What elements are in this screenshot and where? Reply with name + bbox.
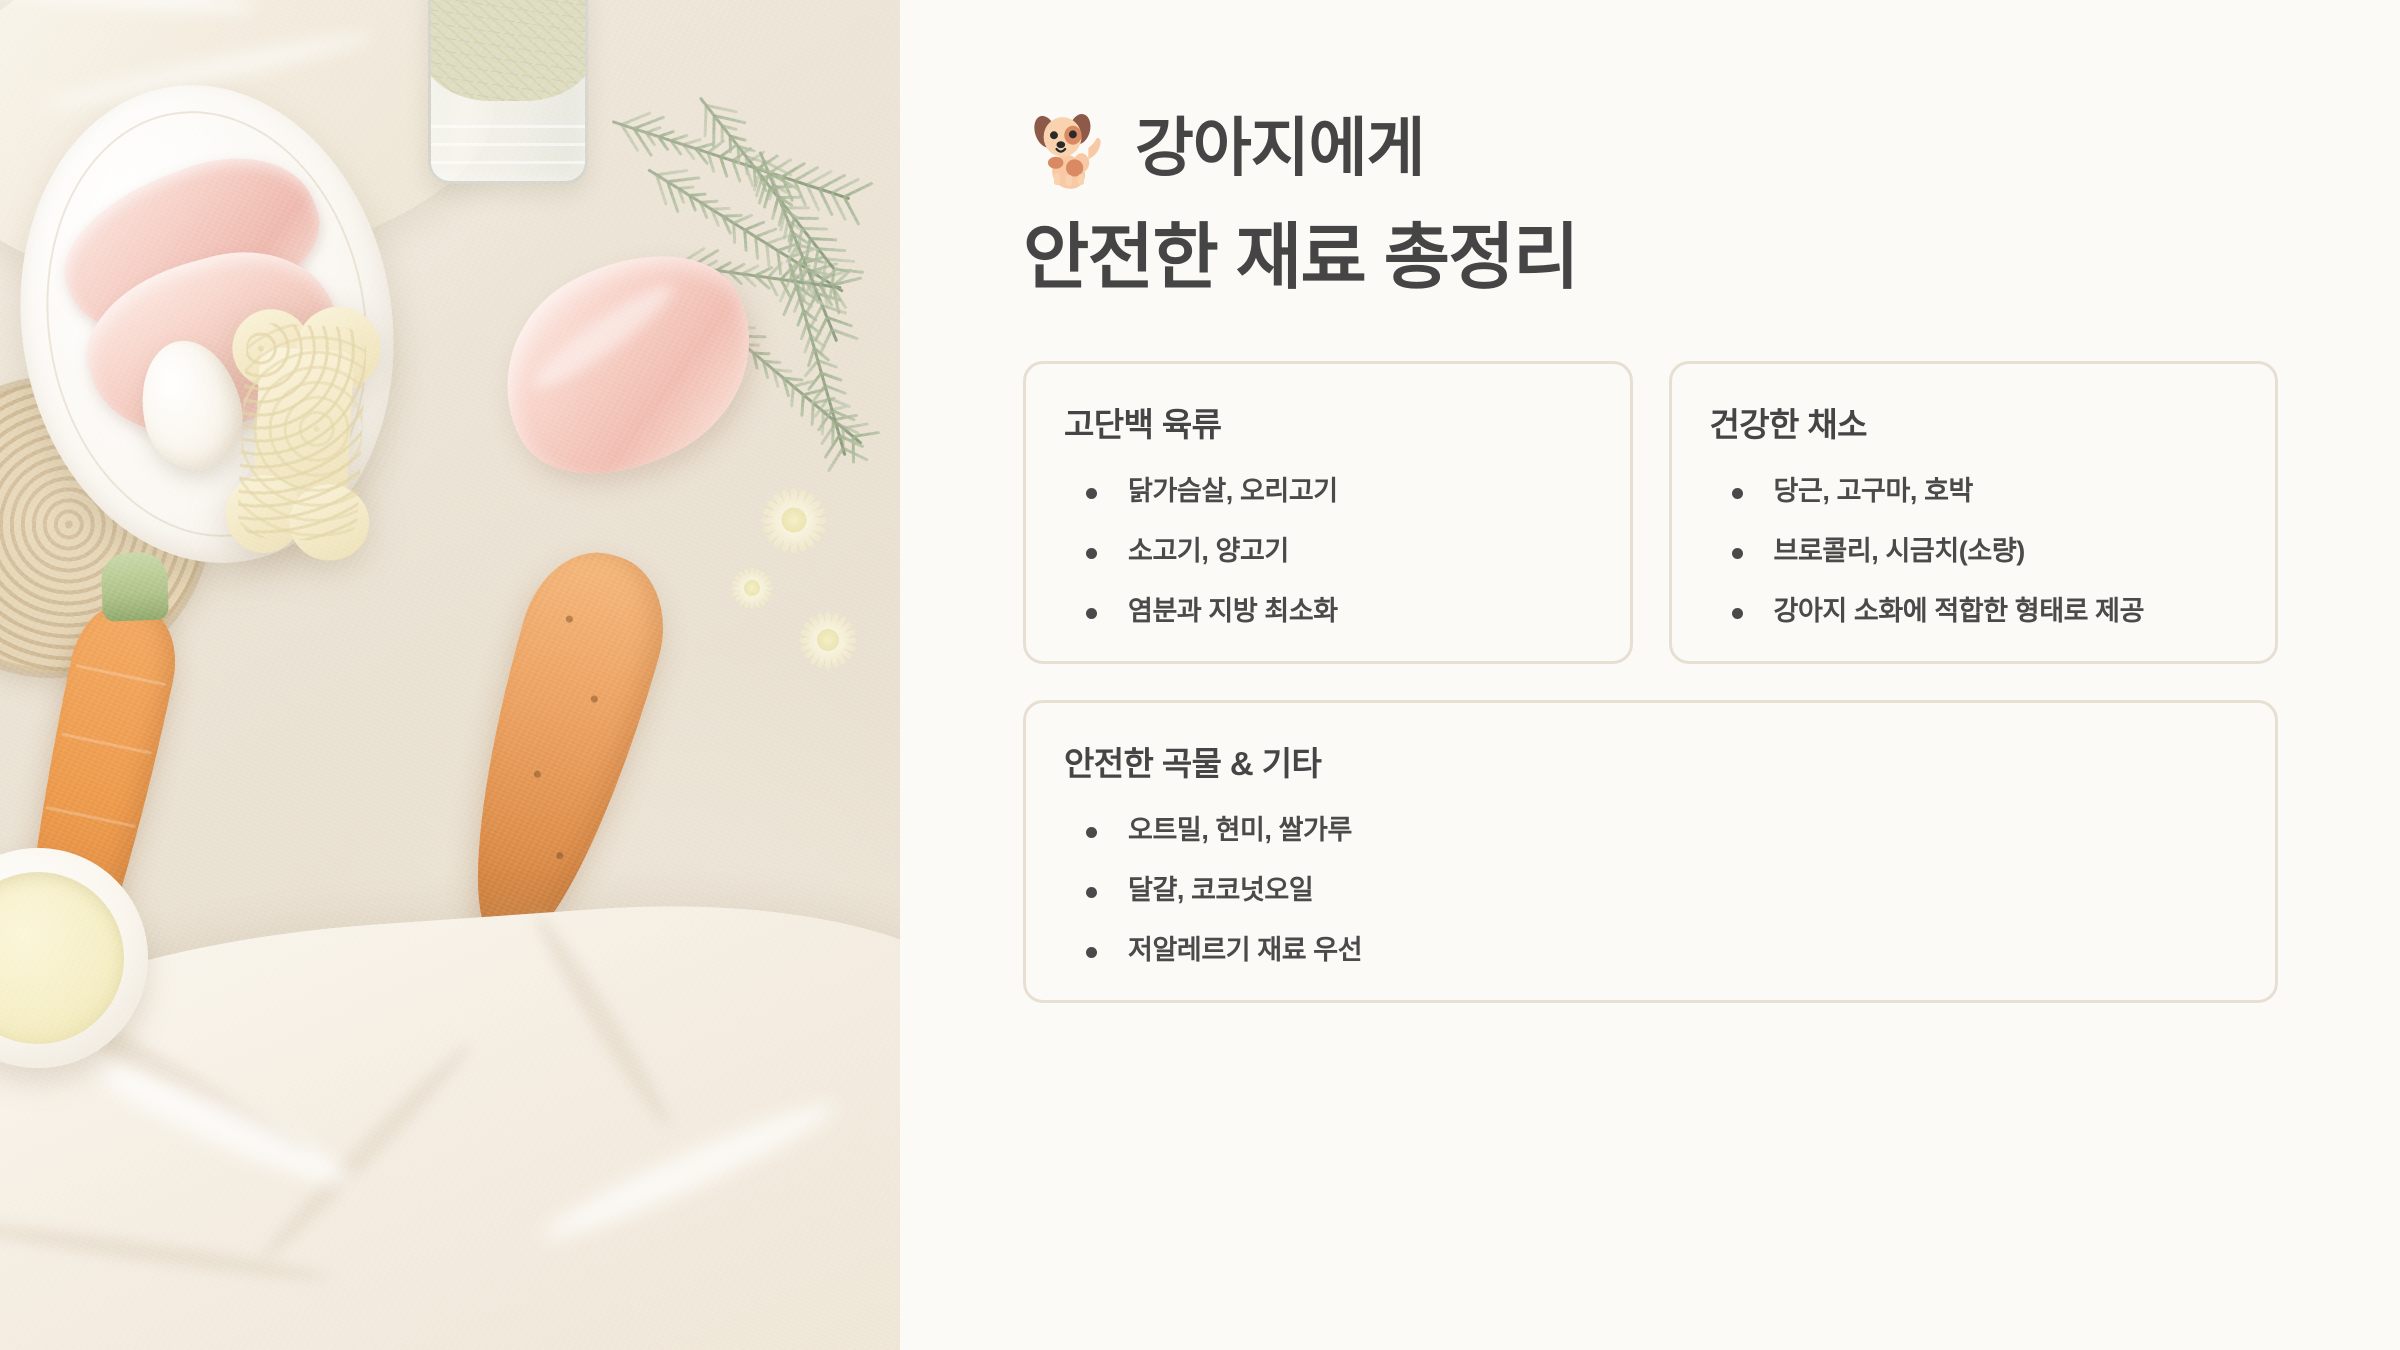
list-item: 닭가슴살, 오리고기 [1064,472,1592,510]
card-list: 당근, 고구마, 호박 브로콜리, 시금치(소량) 강아지 소화에 적합한 형태… [1710,472,2238,631]
list-item: 브로콜리, 시금치(소량) [1710,532,2238,570]
list-item: 강아지 소화에 적합한 형태로 제공 [1710,592,2238,630]
title-line-2: 안전한 재료 총정리 [1023,218,2278,299]
title-line-1: 강아지에게 [1135,113,1424,185]
dried-flower [730,566,775,611]
sweet-potato [438,536,683,959]
card-list: 오트밀, 현미, 쌀가루 달걀, 코코넛오일 저알레르기 재료 우선 [1064,811,2237,970]
card-list: 닭가슴살, 오리고기 소고기, 양고기 염분과 지방 최소화 [1064,472,1592,631]
list-item: 오트밀, 현미, 쌀가루 [1064,811,2237,849]
card-safe-grains-etc: 안전한 곡물 & 기타 오트밀, 현미, 쌀가루 달걀, 코코넛오일 저알레르기… [1023,700,2278,1003]
card-high-protein-meat: 고단백 육류 닭가슴살, 오리고기 소고기, 양고기 염분과 지방 최소화 [1023,361,1633,664]
glass-with-dried-grass [428,0,588,184]
card-title: 고단백 육류 [1064,398,1592,446]
ingredient-photo [0,0,900,1350]
dried-flower [759,485,829,555]
card-healthy-vegetables: 건강한 채소 당근, 고구마, 호박 브로콜리, 시금치(소량) 강아지 소화에… [1669,361,2279,664]
dog-icon [1023,106,1109,192]
list-item: 저알레르기 재료 우선 [1064,931,2237,969]
bone-shaped-biscuit [221,301,384,564]
dried-flower [797,609,859,671]
list-item: 당근, 고구마, 호박 [1710,472,2238,510]
list-item: 소고기, 양고기 [1064,532,1592,570]
content-panel: 강아지에게 안전한 재료 총정리 고단백 육류 닭가슴살, 오리고기 소고기, … [900,0,2400,1350]
list-item: 달걀, 코코넛오일 [1064,871,2237,909]
page-title: 강아지에게 안전한 재료 총정리 [1023,106,2278,299]
sage-sprig [612,120,851,200]
card-grid: 고단백 육류 닭가슴살, 오리고기 소고기, 양고기 염분과 지방 최소화 건강… [1023,361,2278,1003]
card-title: 건강한 채소 [1710,398,2238,446]
list-item: 염분과 지방 최소화 [1064,592,1592,630]
card-title: 안전한 곡물 & 기타 [1064,737,2237,785]
chicken-fillet [466,215,789,514]
